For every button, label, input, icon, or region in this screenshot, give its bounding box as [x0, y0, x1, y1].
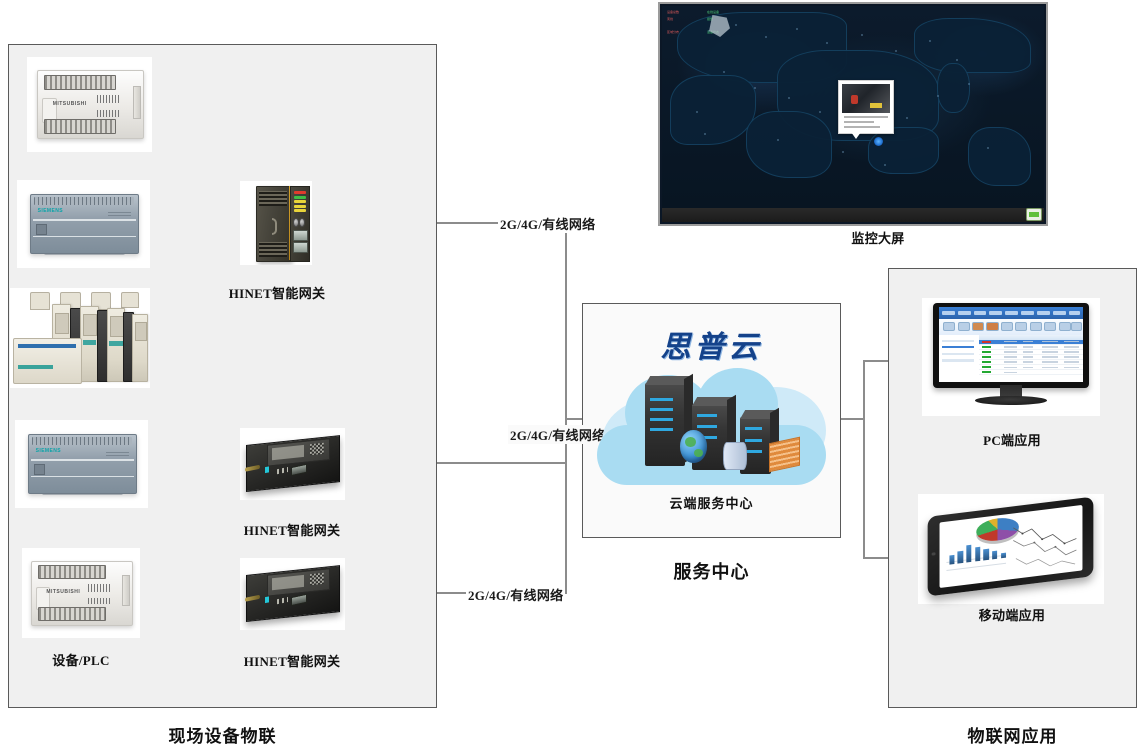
caption-device-plc: 设备/PLC — [22, 650, 140, 669]
label-network-bottom: 2G/4G/有线网络 — [466, 585, 565, 604]
caption-panel-iot-applications: 物联网应用 — [888, 722, 1137, 747]
label-network-top: 2G/4G/有线网络 — [498, 214, 597, 233]
server-rack-1 — [645, 383, 686, 467]
caption-cloud-service-center: 云端服务中心 — [592, 493, 831, 512]
device-plc-siemens-mid: SIEMENS — [15, 420, 148, 508]
cloud-service-illustration: 思普云 — [592, 322, 831, 512]
globe-icon — [680, 430, 706, 462]
caption-monitoring-big-screen: 监控大屏 — [808, 228, 948, 247]
cloud-brand-text: 思普云 — [592, 322, 831, 366]
legend-item-1: 在线设备 — [707, 10, 719, 14]
connector-trunk-vertical — [565, 222, 567, 594]
monitoring-big-screen: 设备总数 在线设备 离线 报警 区域分布 设备状态 — [658, 2, 1048, 226]
connector-cloud-up — [863, 360, 865, 420]
screen-status-badge — [1026, 208, 1042, 221]
legend-item-0: 设备总数 — [667, 10, 679, 14]
map-marker-pin — [874, 137, 883, 146]
device-plc-siemens-top: SIEMENS — [17, 180, 150, 268]
database-icon — [723, 442, 747, 471]
diagram-canvas: MITSUBISHI SIEMENS — [0, 0, 1143, 752]
caption-gateway-din-rail: HINET智能网关 — [212, 283, 342, 302]
line-chart-icon — [1012, 510, 1078, 576]
legend-item-4: 区域分布 — [667, 30, 679, 34]
device-photo — [842, 84, 890, 113]
map-display: 设备总数 在线设备 离线 报警 区域分布 设备状态 — [662, 6, 1044, 208]
device-gateway-box-1 — [240, 428, 345, 500]
device-plc-mitsubishi-top: MITSUBISHI — [27, 57, 152, 152]
device-gateway-box-2 — [240, 558, 345, 630]
caption-panel-service-center: 服务中心 — [582, 558, 841, 584]
app-mobile-illustration — [918, 494, 1104, 604]
screen-stand-bar — [662, 208, 1044, 222]
connector-cloud-down — [863, 418, 865, 558]
caption-app-pc: PC端应用 — [942, 430, 1082, 449]
caption-app-mobile: 移动端应用 — [942, 605, 1082, 624]
caption-gateway-box-2: HINET智能网关 — [227, 651, 357, 670]
caption-panel-field-devices: 现场设备物联 — [8, 722, 437, 747]
caption-gateway-box-1: HINET智能网关 — [227, 520, 357, 539]
device-plc-mitsubishi-bottom: MITSUBISHI — [22, 548, 140, 638]
app-pc-illustration — [922, 298, 1100, 416]
device-info-popup — [838, 80, 894, 134]
legend-item-2: 离线 — [667, 17, 673, 21]
device-plc-rack — [10, 288, 150, 388]
device-gateway-din-rail — [240, 181, 312, 265]
